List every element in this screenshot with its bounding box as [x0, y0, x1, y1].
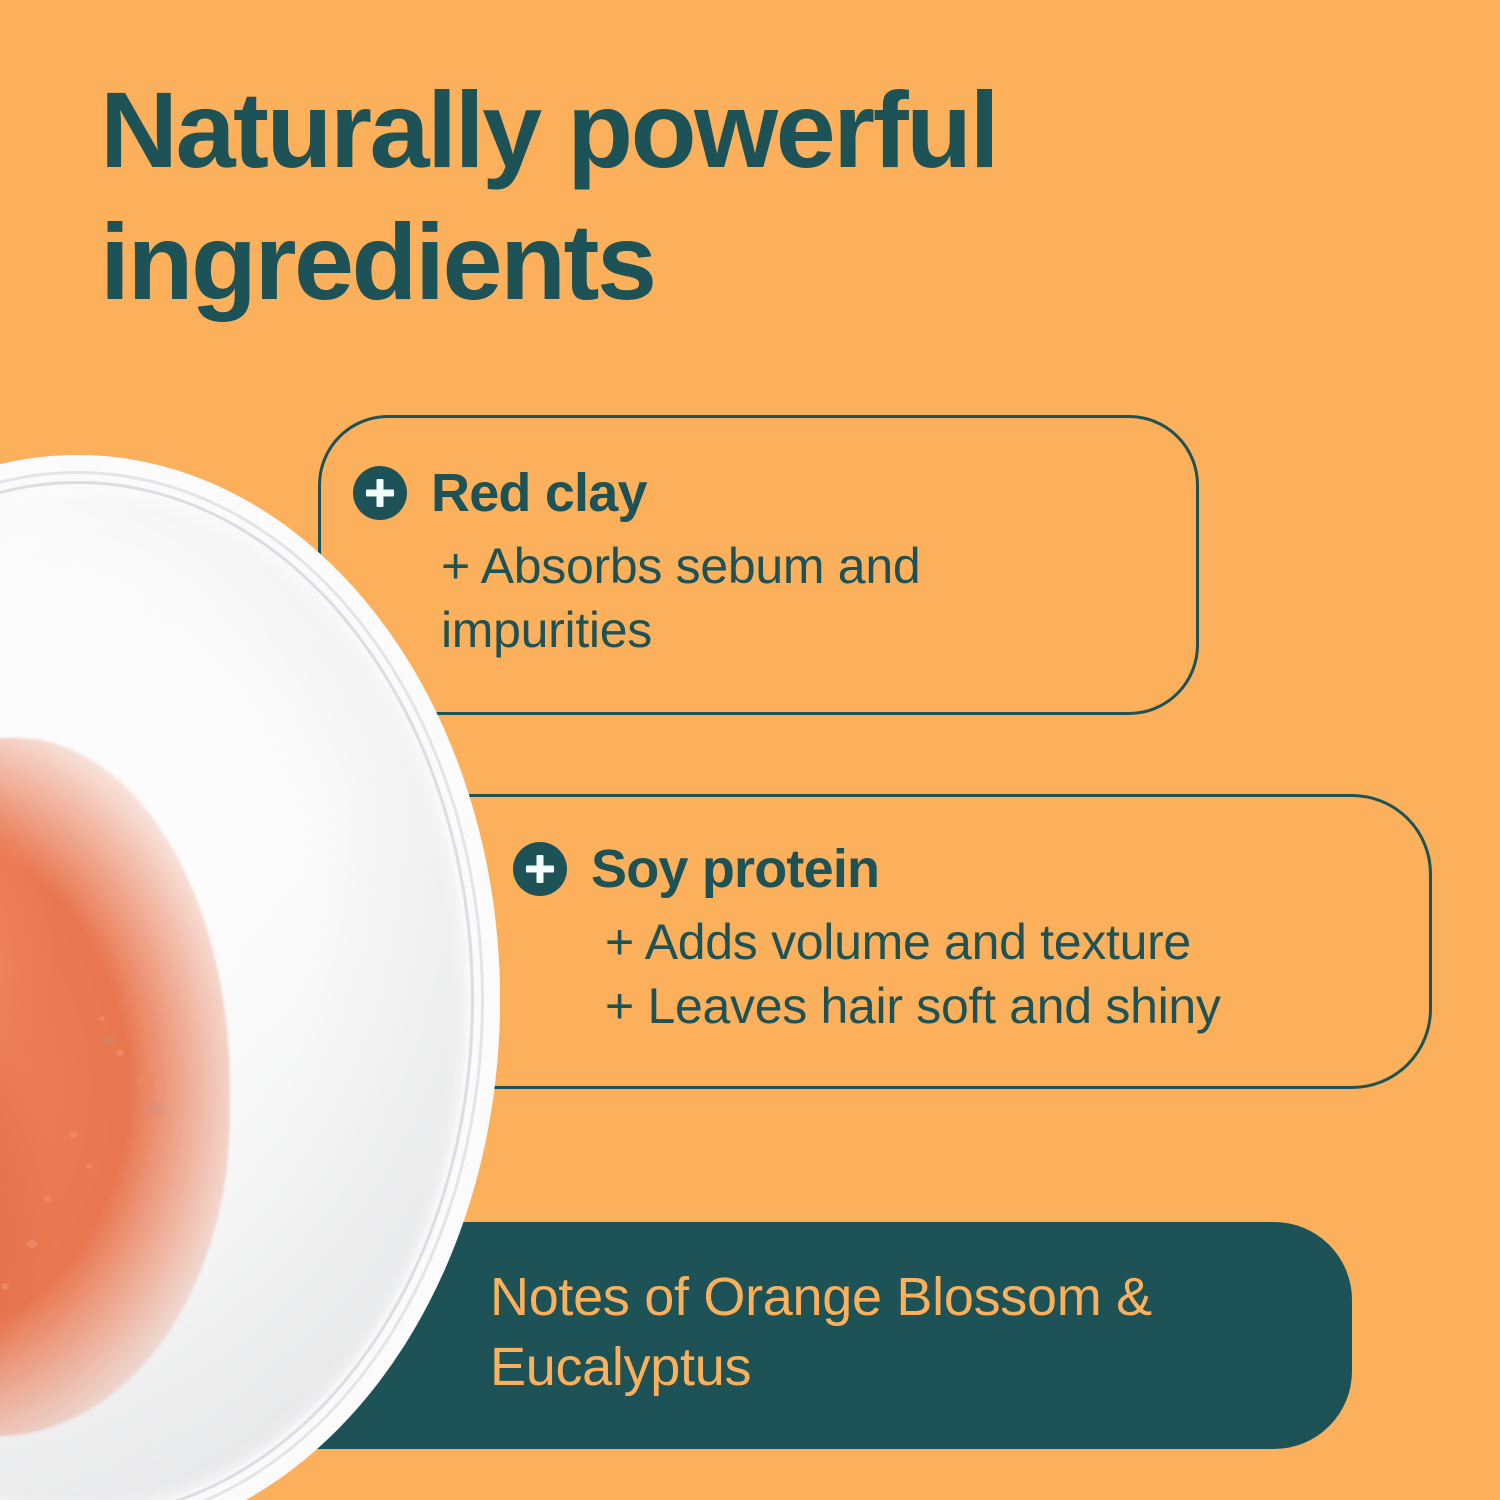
ingredient-title: Red clay: [431, 466, 647, 520]
clay-grain-shadow: [103, 1038, 117, 1044]
clay-grain: [116, 1049, 124, 1056]
clay-grain: [132, 1011, 139, 1017]
clay-grain: [86, 1164, 92, 1169]
ingredient-content-red-clay: Red clay + Absorbs sebum and impurities: [353, 466, 920, 662]
clay-grain: [44, 1196, 51, 1202]
ingredient-title: Soy protein: [591, 842, 879, 896]
clay-grain-shadow: [145, 1104, 167, 1112]
ingredient-title-row: Red clay: [353, 466, 920, 520]
plus-icon: [353, 466, 407, 520]
page-title: Naturally powerful ingredients: [100, 64, 1280, 328]
scent-band-text: Notes of Orange Blossom & Eucalyptus: [490, 1262, 1310, 1402]
plus-icon: [513, 842, 567, 896]
clay-grain: [69, 1131, 78, 1138]
ingredient-title-row: Soy protein: [513, 842, 1221, 896]
ingredient-content-soy-protein: Soy protein + Adds volume and texture + …: [513, 842, 1221, 1038]
clay-grain: [99, 1016, 105, 1021]
ingredient-benefits: + Absorbs sebum and impurities: [441, 534, 920, 662]
clay-grain: [135, 1074, 155, 1091]
ingredients-infographic: Naturally powerful ingredients Notes of …: [0, 0, 1500, 1500]
ingredient-benefits: + Adds volume and texture + Leaves hair …: [605, 910, 1221, 1038]
